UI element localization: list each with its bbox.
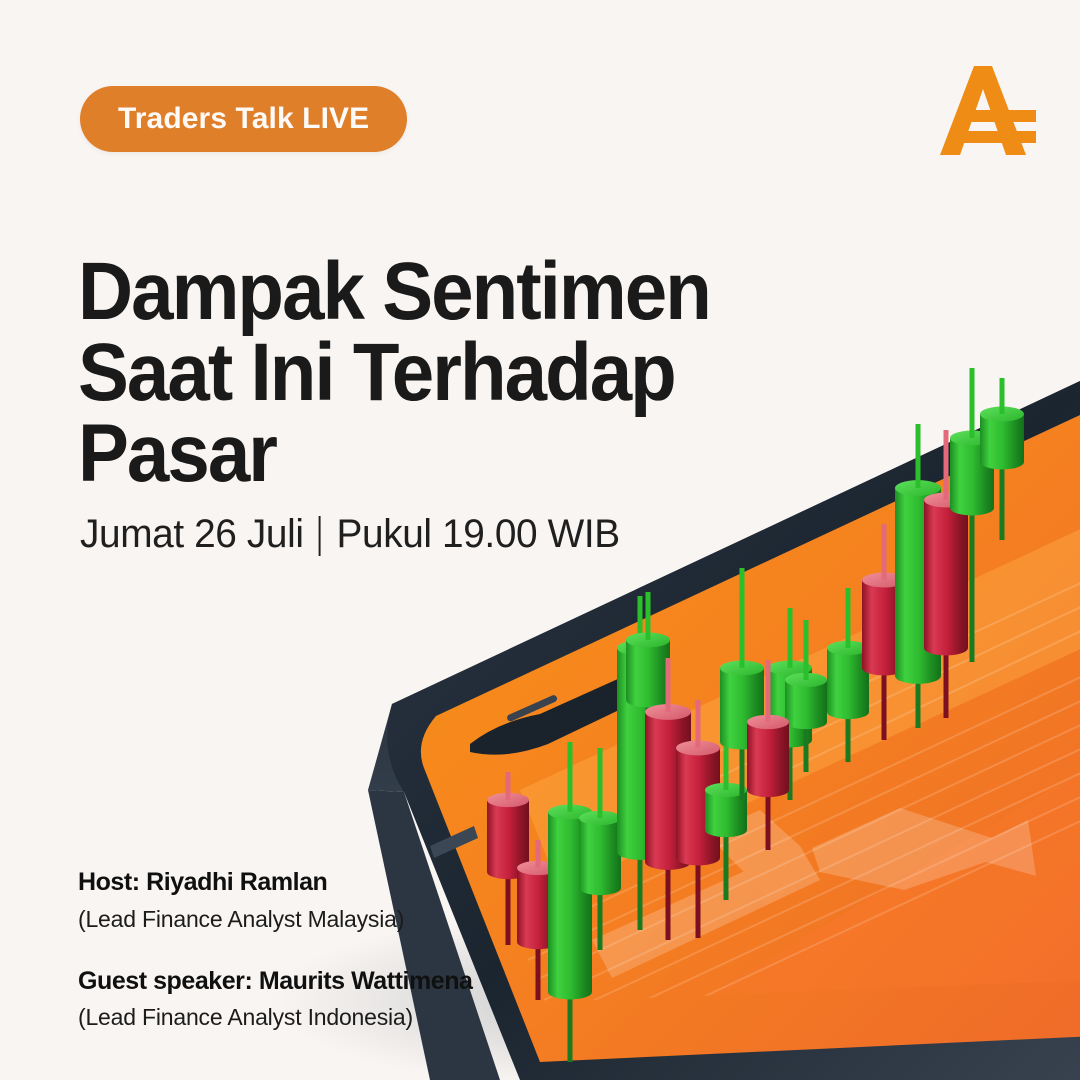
brand-logo: [930, 58, 1040, 163]
candle-body: [924, 500, 968, 648]
speaker-credits: Host: Riyadhi Ramlan (Lead Finance Analy…: [78, 866, 548, 1033]
candlestick-4: [579, 748, 621, 950]
candle-body-base: [950, 501, 994, 516]
candle-body: [626, 640, 670, 700]
candle-body: [862, 580, 906, 668]
event-date: Jumat 26 Juli: [80, 512, 304, 557]
candle-cap: [720, 661, 764, 676]
candle-body-base: [548, 985, 592, 1000]
candle-cap: [827, 641, 869, 655]
screen-graphics: [520, 520, 1080, 1070]
candle-cap: [862, 573, 906, 588]
candle-body-base: [705, 823, 747, 837]
candle-body-base: [617, 844, 663, 860]
candle-body-base: [862, 661, 906, 676]
candle-cap: [980, 407, 1024, 422]
candle-body-base: [747, 783, 789, 797]
arrow-up-icon: [592, 808, 1036, 978]
candle-cap: [676, 741, 720, 756]
candlestick-10: [720, 568, 764, 800]
candle-cap: [895, 480, 941, 496]
guest-role: (Lead Finance Analyst Indonesia): [78, 1001, 548, 1033]
candle-cap: [487, 793, 529, 807]
candlestick-12: [785, 620, 827, 772]
candle-cap: [645, 704, 691, 720]
candlestick-15: [862, 524, 906, 740]
candlestick-16: [895, 424, 941, 728]
candle-body-base: [676, 851, 720, 866]
candle-body: [980, 414, 1024, 462]
headline-line-3: Pasar: [78, 413, 822, 494]
event-time: Pukul 19.00 WIB: [337, 512, 620, 557]
candlestick-13: [747, 660, 789, 850]
candle-body: [950, 438, 994, 508]
candlestick-18: [950, 368, 994, 662]
candle-body-base: [980, 455, 1024, 470]
candlestick-14: [827, 588, 869, 762]
headline-line-1: Dampak Sentimen: [78, 251, 822, 332]
phone-notch: [470, 678, 642, 755]
candle-body: [747, 722, 789, 790]
candlestick-7: [645, 658, 691, 940]
host-name: Host: Riyadhi Ramlan: [78, 866, 548, 899]
candle-body: [645, 712, 691, 862]
candle-body-base: [827, 705, 869, 719]
candle-body: [768, 668, 812, 740]
candlestick-17: [924, 430, 968, 718]
candle-body: [720, 668, 764, 742]
candle-body-base: [924, 641, 968, 656]
poster-canvas: Traders Talk LIVE Dampak Sentimen Saat I…: [0, 0, 1080, 1080]
candle-cap: [768, 661, 812, 676]
candle-cap: [617, 640, 663, 656]
candle-body: [579, 818, 621, 888]
candle-body-base: [579, 881, 621, 895]
candle-body-base: [785, 715, 827, 729]
candle-body: [548, 812, 592, 992]
candlestick-5: [617, 596, 663, 930]
phone-side-button: [430, 826, 478, 858]
credit-guest: Guest speaker: Maurits Wattimena (Lead F…: [78, 965, 548, 1034]
candle-cap: [950, 431, 994, 446]
earpiece-speaker: [506, 694, 558, 722]
candle-body: [785, 680, 827, 722]
candle-cap: [626, 633, 670, 648]
logo-a-mark-icon: [930, 58, 1040, 163]
candle-body-base: [626, 693, 670, 708]
candle-cap: [924, 493, 968, 508]
candlestick-19: [980, 378, 1024, 540]
candle-cap: [705, 783, 747, 797]
schedule-separator: [319, 516, 321, 556]
candlestick-8: [676, 700, 720, 938]
headline-line-2: Saat Ini Terhadap: [78, 332, 822, 413]
live-badge-label: Traders Talk LIVE: [118, 102, 369, 136]
live-badge[interactable]: Traders Talk LIVE: [80, 86, 407, 152]
page-title: Dampak Sentimen Saat Ini Terhadap Pasar: [78, 251, 822, 495]
candle-cap: [548, 805, 592, 820]
candle-cap: [785, 673, 827, 687]
candle-body-base: [645, 854, 691, 870]
guest-name: Guest speaker: Maurits Wattimena: [78, 965, 548, 998]
candle-body: [676, 748, 720, 858]
candle-body-base: [895, 668, 941, 684]
candle-body: [705, 790, 747, 830]
candlestick-3: [548, 742, 592, 1062]
candle-body: [895, 488, 941, 676]
candle-body: [487, 800, 529, 872]
candlestick-6: [626, 592, 670, 742]
host-role: (Lead Finance Analyst Malaysia): [78, 903, 548, 935]
candle-body: [617, 648, 663, 852]
credit-host: Host: Riyadhi Ramlan (Lead Finance Analy…: [78, 866, 548, 935]
candlestick-9: [705, 712, 747, 900]
candle-body-base: [768, 733, 812, 748]
candle-cap: [747, 715, 789, 729]
candle-body-base: [720, 735, 764, 750]
event-schedule: Jumat 26 Juli Pukul 19.00 WIB: [80, 512, 620, 557]
candlestick-11: [768, 608, 812, 800]
candle-cap: [579, 811, 621, 825]
candle-body: [827, 648, 869, 712]
